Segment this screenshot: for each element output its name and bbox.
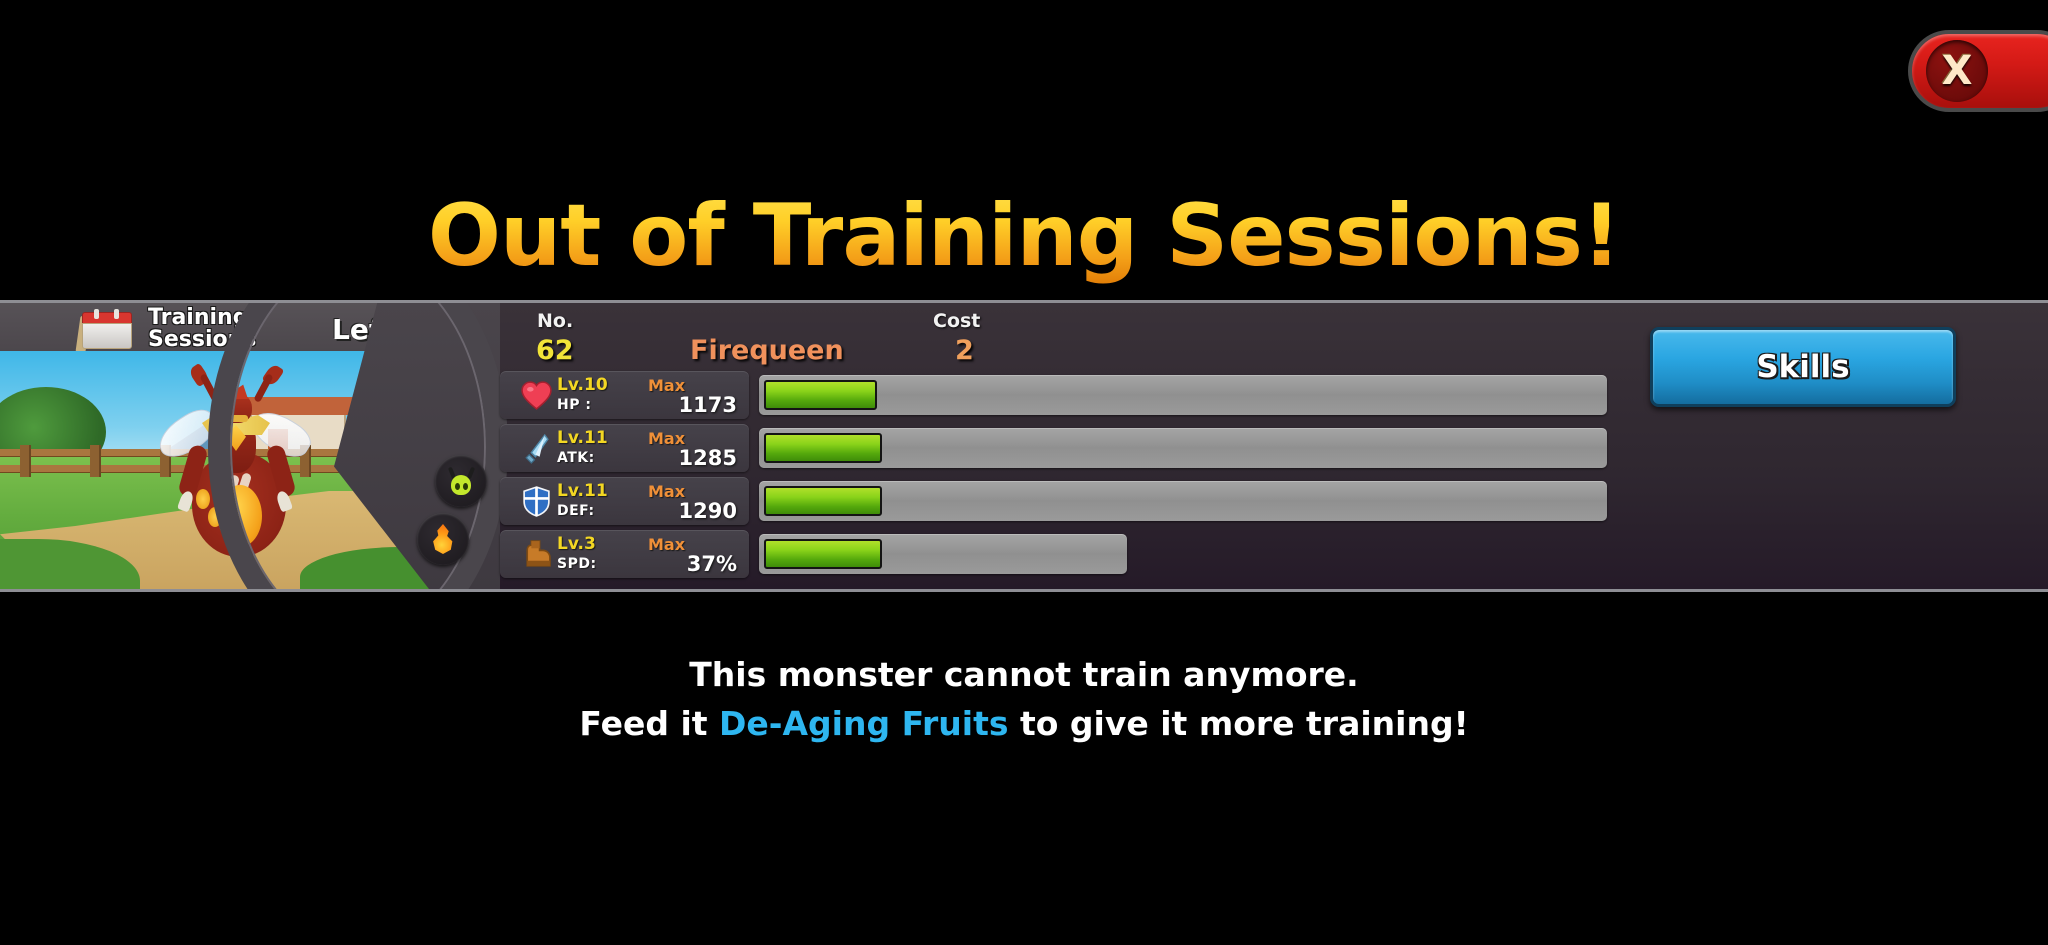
stat-max: Max: [648, 535, 685, 554]
monster-header-row: No. 62 Firequeen Cost 2: [500, 303, 1700, 369]
stat-name: HP :: [557, 397, 591, 413]
monster-sprite: [150, 367, 320, 577]
stat-value: 1290: [679, 499, 737, 523]
stat-bar-fill-def: [764, 486, 882, 516]
stat-level: Lv.10: [557, 375, 608, 395]
monster-info-panel: Training Sessions Left 0: [0, 300, 2048, 592]
cost-label: Cost: [933, 310, 980, 332]
stat-bar-fill-spd: [764, 539, 882, 569]
boot-icon: [520, 538, 553, 571]
de-aging-fruits-link[interactable]: De-Aging Fruits: [719, 704, 1008, 743]
stat-name: DEF:: [557, 503, 595, 519]
stat-row: Lv.11 Max DEF: 1290: [500, 477, 2048, 525]
skills-button[interactable]: Skills: [1650, 327, 1956, 407]
monster-no-value: 62: [536, 335, 574, 366]
cost-value: 2: [955, 335, 974, 366]
stat-box-hp: Lv.10 Max HP : 1173: [500, 371, 749, 419]
sessions-label-line2: Sessions: [148, 329, 278, 351]
stat-value: 1285: [679, 446, 737, 470]
monster-no-label: No.: [537, 310, 573, 332]
monster-name: Firequeen: [690, 335, 844, 366]
stat-bar-track-hp: [759, 375, 1607, 415]
sessions-left-value: 0: [417, 313, 436, 346]
message-line-1: This monster cannot train anymore.: [0, 650, 2048, 699]
fire-element-icon[interactable]: [417, 513, 469, 565]
stat-box-spd: Lv.3 Max SPD: 37%: [500, 530, 749, 578]
stat-bar-fill-atk: [764, 433, 882, 463]
stat-value: 1173: [679, 393, 737, 417]
stat-level: Lv.3: [557, 534, 596, 554]
close-button[interactable]: X: [1908, 30, 2048, 112]
shield-icon: [520, 485, 553, 518]
stat-value: 37%: [687, 552, 737, 576]
stat-box-def: Lv.11 Max DEF: 1290: [500, 477, 749, 525]
message-line2-after: to give it more training!: [1009, 704, 1469, 743]
stat-bar-track-spd: [759, 534, 1127, 574]
stat-bar-track-atk: [759, 428, 1607, 468]
stat-name: SPD:: [557, 556, 597, 572]
portrait-scene: [0, 351, 470, 592]
monster-portrait-block: Training Sessions Left 0: [0, 303, 500, 589]
calendar-icon: [78, 309, 134, 351]
stat-box-atk: Lv.11 Max ATK: 1285: [500, 424, 749, 472]
monster-stats-column: No. 62 Firequeen Cost 2 Lv.10 Max HP : 1…: [500, 303, 2048, 592]
heart-icon: [520, 379, 553, 412]
info-message: This monster cannot train anymore. Feed …: [0, 650, 2048, 748]
close-icon: X: [1926, 40, 1988, 102]
training-sessions-bar: Training Sessions Left 0: [0, 303, 500, 351]
bug-element-icon[interactable]: [435, 455, 487, 507]
sword-icon: [520, 432, 553, 465]
element-badges: [426, 455, 496, 585]
page-title: Out of Training Sessions!: [0, 186, 2048, 286]
stat-row: Lv.11 Max ATK: 1285: [500, 424, 2048, 472]
stat-bar-fill-hp: [764, 380, 877, 410]
sessions-left-label: Left: [332, 313, 394, 346]
stat-level: Lv.11: [557, 428, 608, 448]
monster-portrait[interactable]: [0, 351, 470, 592]
stat-bar-track-def: [759, 481, 1607, 521]
stat-level: Lv.11: [557, 481, 608, 501]
stat-name: ATK:: [557, 450, 595, 466]
sessions-label-line1: Training: [148, 305, 278, 329]
stat-row: Lv.3 Max SPD: 37%: [500, 530, 2048, 578]
skills-button-label: Skills: [1756, 349, 1849, 385]
message-line2-before: Feed it: [579, 704, 719, 743]
message-line-2: Feed it De-Aging Fruits to give it more …: [0, 699, 2048, 748]
close-icon-glyph: X: [1942, 51, 1973, 91]
training-sessions-label: Training Sessions: [148, 305, 278, 351]
